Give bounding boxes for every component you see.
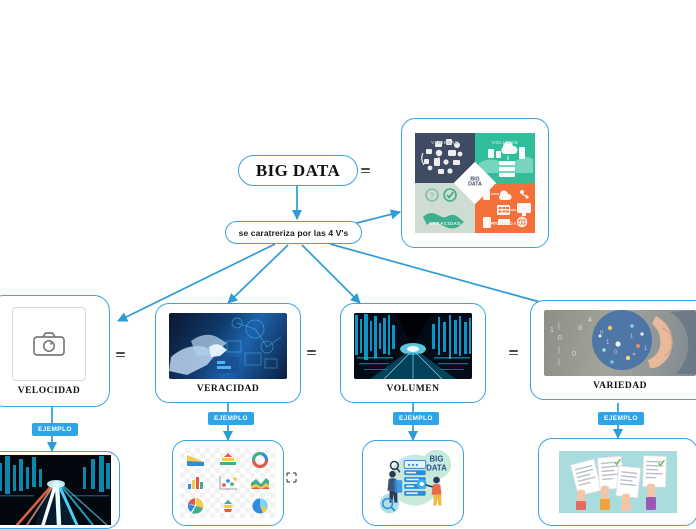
image-hands-holding-documents-illustration xyxy=(559,451,677,513)
badge-label: EJEMPLO xyxy=(399,415,433,422)
badge-ejemplo-veracidad[interactable]: EJEMPLO xyxy=(208,412,254,425)
badge-ejemplo-velocidad[interactable]: EJEMPLO xyxy=(32,423,78,436)
svg-text:d: d xyxy=(578,325,582,332)
quadrant-label-veracidad: VERACIDAD xyxy=(415,221,475,226)
root-node-label: BIG DATA xyxy=(256,161,340,181)
image-light-speed-data-highway xyxy=(0,455,111,525)
data-sphere-artwork: 1|0 ||0 d4 010 11 xyxy=(544,310,696,376)
image-hand-holding-data-sphere: 1|0 ||0 d4 010 11 xyxy=(544,310,696,376)
badge-label: EJEMPLO xyxy=(38,426,72,433)
svg-text:|: | xyxy=(558,359,560,366)
svg-text:1: 1 xyxy=(550,327,554,334)
badge-ejemplo-variedad[interactable]: EJEMPLO xyxy=(598,412,644,425)
v-node-label-volumen: VOLUMEN xyxy=(387,384,440,394)
v-node-variedad[interactable]: 1|0 ||0 d4 010 11 xyxy=(530,300,696,400)
svg-text:4: 4 xyxy=(588,317,592,324)
badge-label: EJEMPLO xyxy=(604,415,638,422)
root-node-big-data[interactable]: BIG DATA xyxy=(238,155,358,186)
v-node-label-veracidad: VERACIDAD xyxy=(197,384,260,394)
image-chart-type-icon-grid xyxy=(180,448,276,518)
svg-text:0: 0 xyxy=(558,335,562,342)
chart-icon-pie xyxy=(249,496,271,516)
chart-icon-stacked-area xyxy=(249,473,271,493)
image-big-data-people-servers-illustration: BIG DATA xyxy=(368,447,458,519)
v-node-label-variedad: VARIEDAD xyxy=(593,381,647,391)
infographic-node[interactable]: VARIEDAD VOLUMEN xyxy=(401,118,549,248)
example-node-expand-icon[interactable] xyxy=(286,472,297,483)
svg-text:|: | xyxy=(558,347,560,354)
svg-text:?: ? xyxy=(430,192,435,201)
badge-label: EJEMPLO xyxy=(214,415,248,422)
v-node-menu-icon-veracidad[interactable] xyxy=(304,346,318,359)
v-node-volumen[interactable]: VOLUMEN xyxy=(340,303,486,403)
badge-ejemplo-volumen[interactable]: EJEMPLO xyxy=(393,412,439,425)
quadrant-label-variedad: VARIEDAD xyxy=(415,140,475,145)
example-node-variedad[interactable] xyxy=(538,438,696,526)
broken-image-placeholder xyxy=(12,307,86,381)
center-label-line2: DATA xyxy=(468,182,482,188)
v-node-velocidad[interactable]: VELOCIDAD xyxy=(0,295,110,407)
illustration-caption-line2: DATA xyxy=(426,463,447,472)
big-data-illustration-artwork: BIG DATA xyxy=(368,446,458,520)
chart-icon-area xyxy=(185,450,207,470)
infographic-center-label: BIG DATA xyxy=(468,178,482,189)
camera-icon xyxy=(32,330,66,358)
chart-icon-pyramid xyxy=(217,450,239,470)
chart-icon-histogram xyxy=(185,473,207,493)
v-node-menu-icon-volumen[interactable] xyxy=(506,346,520,359)
v-node-label-velocidad: VELOCIDAD xyxy=(18,386,81,396)
svg-text:|: | xyxy=(558,323,560,330)
relation-node-label: se caratreriza por las 4 V's xyxy=(239,228,349,238)
image-blue-data-corridor xyxy=(354,313,472,379)
quadrant-label-volumen: VOLUMEN xyxy=(475,140,535,145)
documents-artwork xyxy=(559,451,677,513)
root-node-menu-icon[interactable] xyxy=(358,164,372,177)
illustration-caption-line1: BIG xyxy=(430,454,444,463)
data-corridor-artwork xyxy=(354,313,472,379)
example-node-veracidad[interactable] xyxy=(172,440,284,526)
v-node-menu-icon-velocidad[interactable] xyxy=(113,348,127,361)
example-node-velocidad[interactable] xyxy=(0,451,120,529)
v-node-veracidad[interactable]: VERACIDAD xyxy=(155,303,301,403)
chart-icon-scatter xyxy=(217,473,239,493)
quadrant-label-velocidad: VELOCIDAD xyxy=(475,221,535,226)
image-hands-touching-blue-data-screen xyxy=(169,313,287,379)
chart-icon-donut xyxy=(249,450,271,470)
mindmap-canvas[interactable]: BIG DATA se caratreriza por las 4 V's xyxy=(0,0,696,520)
chart-icon-pie-exploded xyxy=(185,496,207,516)
example-node-volumen[interactable]: BIG DATA xyxy=(362,440,464,526)
svg-text:0: 0 xyxy=(572,351,576,358)
tech-screen-artwork xyxy=(169,313,287,379)
light-speed-artwork xyxy=(0,455,111,525)
relation-node[interactable]: se caratreriza por las 4 V's xyxy=(225,221,362,244)
big-data-4v-infographic: VARIEDAD VOLUMEN xyxy=(415,133,535,233)
chart-icon-funnel xyxy=(217,496,239,516)
